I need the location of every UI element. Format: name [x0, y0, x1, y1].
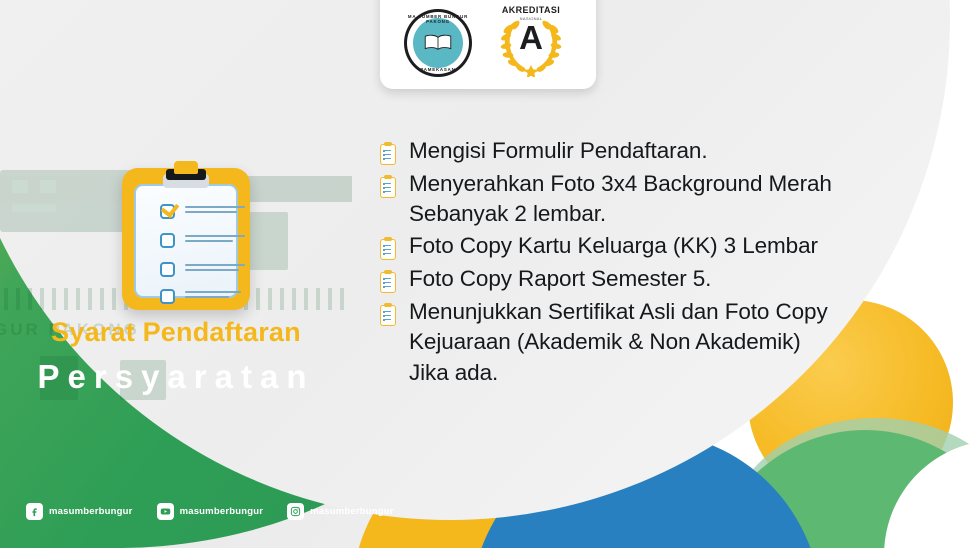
list-item: Mengisi Formulir Pendaftaran.: [378, 136, 950, 168]
panel-title: Persyaratan: [0, 358, 352, 396]
list-item: Foto Copy Kartu Keluarga (KK) 3 Lembar: [378, 231, 950, 263]
social-link-instagram[interactable]: masumberbungur: [287, 503, 394, 520]
accreditation-badge: AKREDITASI NASIONAL: [490, 3, 572, 77]
requirement-text-continuation: Kejuaraan (Akademik & Non Akademik): [409, 327, 828, 357]
requirement-text: Menyerahkan Foto 3x4 Background Merah Se…: [409, 169, 832, 230]
clipboard-clip-knob: [174, 161, 198, 174]
panel-subtitle: Syarat Pendaftaran: [0, 317, 352, 348]
requirements-list: Mengisi Formulir Pendaftaran. Menyerahka…: [378, 136, 950, 389]
clipboard-bullet-icon: [378, 176, 398, 201]
requirement-text: Foto Copy Kartu Keluarga (KK) 3 Lembar: [409, 231, 818, 261]
logo-card: MA SUMBER BUNGUR PAKONG PAMEKASAN AKREDI…: [380, 0, 596, 89]
facebook-icon: [26, 503, 43, 520]
seal-text-top: MA SUMBER BUNGUR PAKONG: [404, 14, 472, 24]
social-link-youtube[interactable]: masumberbungur: [157, 503, 264, 520]
watermark-block-b: [248, 212, 288, 270]
open-book-icon: [423, 33, 453, 53]
list-item: Menunjukkan Sertifikat Asli dan Foto Cop…: [378, 297, 950, 388]
school-seal-logo: MA SUMBER BUNGUR PAKONG PAMEKASAN: [404, 9, 472, 77]
clipboard-text-lines: [185, 235, 245, 245]
instagram-icon: [287, 503, 304, 520]
clipboard-bullet-icon: [378, 238, 398, 263]
social-link-facebook[interactable]: masumberbungur: [26, 503, 133, 520]
seal-text-bottom: PAMEKASAN: [404, 67, 472, 72]
clipboard-checkbox: [160, 233, 175, 248]
social-media-bar: masumberbungur masumberbungur masumberbu…: [26, 503, 394, 520]
clipboard-text-lines: [185, 206, 245, 216]
instagram-handle: masumberbungur: [310, 506, 394, 517]
clipboard-bullet-icon: [378, 304, 398, 329]
requirement-text: Mengisi Formulir Pendaftaran.: [409, 136, 707, 166]
requirement-text: Foto Copy Raport Semester 5.: [409, 264, 711, 294]
facebook-handle: masumberbungur: [49, 506, 133, 517]
requirement-text: Menunjukkan Sertifikat Asli dan Foto Cop…: [409, 297, 828, 388]
clipboard-checkbox-checked: [160, 204, 175, 219]
list-item: Menyerahkan Foto 3x4 Background Merah Se…: [378, 169, 950, 230]
clipboard-text-lines: [185, 291, 245, 301]
accreditation-grade: A: [490, 21, 572, 54]
clipboard-bullet-icon: [378, 143, 398, 168]
clipboard-text-lines: [185, 264, 245, 274]
clipboard-paper: [134, 184, 238, 298]
requirement-text-note: Jika ada.: [409, 358, 828, 388]
youtube-handle: masumberbungur: [180, 506, 264, 517]
clipboard-checkbox: [160, 262, 175, 277]
requirement-text-continuation: Sebanyak 2 lembar.: [409, 199, 832, 229]
poster-canvas: GUR PAKONG: [0, 0, 974, 548]
youtube-icon: [157, 503, 174, 520]
clipboard-bullet-icon: [378, 271, 398, 296]
list-item: Foto Copy Raport Semester 5.: [378, 264, 950, 296]
checkmark-icon: [161, 199, 180, 218]
clipboard-checkbox: [160, 289, 175, 304]
clipboard-illustration: [122, 168, 250, 310]
